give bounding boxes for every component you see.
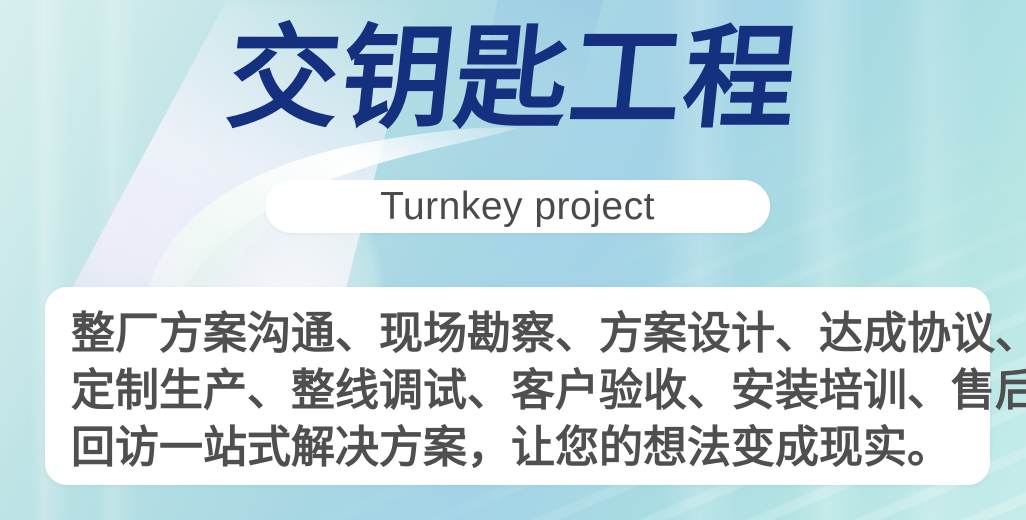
subtitle-pill: Turnkey project [265,180,770,233]
turnkey-project-banner: 交钥匙工程 Turnkey project 整厂方案沟通、现场勘察、方案设计、达… [0,0,1026,520]
description-line: 整厂方案沟通、现场勘察、方案设计、达成协议、 [71,305,964,362]
subtitle-text: Turnkey project [380,185,655,229]
description-line: 回访一站式解决方案，让您的想法变成现实。 [71,419,964,476]
page-title: 交钥匙工程 [0,14,1026,144]
description-line: 定制生产、整线调试、客户验收、安装培训、售后 [71,362,964,419]
description-card: 整厂方案沟通、现场勘察、方案设计、达成协议、 定制生产、整线调试、客户验收、安装… [45,287,990,485]
